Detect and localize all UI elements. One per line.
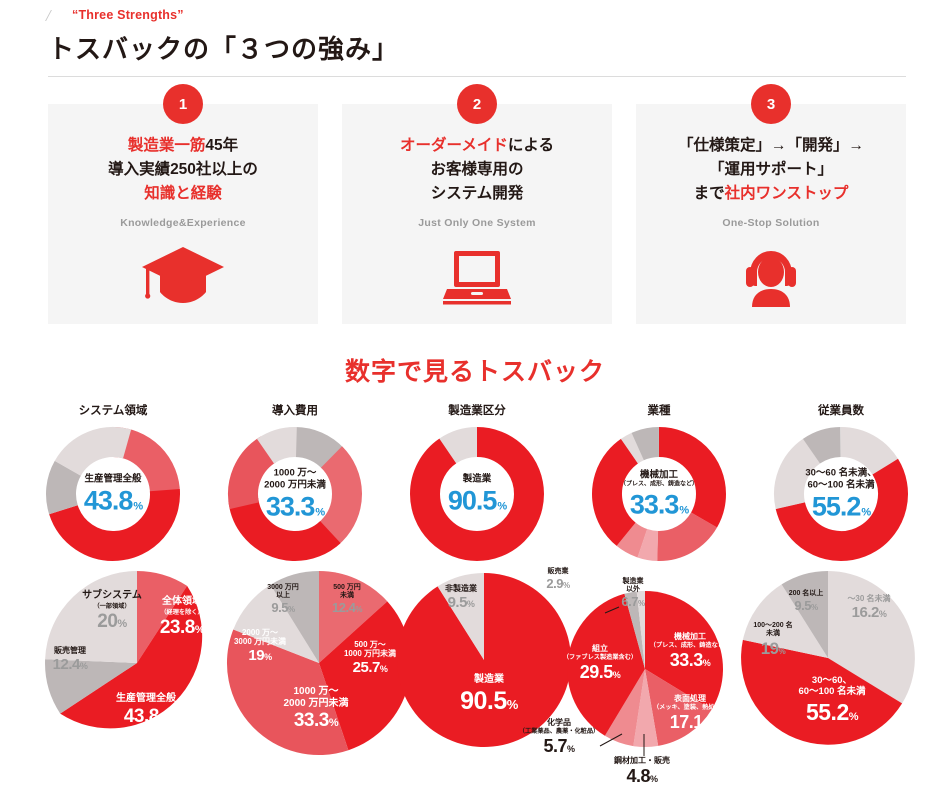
- card-heading-plain: システム開発: [431, 185, 524, 202]
- donut-center-number: 90.5%: [431, 487, 523, 514]
- pie-chart-employees: 200 名以上 9.5% ～30 名未満 16.2% 100～200 名 未満 …: [738, 568, 918, 748]
- pie-label-100to200: 100～200 名 未満 19%: [734, 622, 812, 659]
- pie-value: 43.8%: [86, 706, 206, 728]
- pie-value: 6.7%: [608, 595, 658, 610]
- donut-center-value: 30～60 名未満、 60～100 名未満 55.2%: [795, 468, 887, 521]
- pie-label-1000to2000: 1000 万～ 2000 万円未満 33.3%: [258, 686, 374, 732]
- charts-section-title: 数字で見るトスバック: [0, 352, 950, 388]
- pie-value: 90.5%: [439, 687, 539, 716]
- card-heading: 「仕様策定」→「開発」→ 「運用サポート」 まで社内ワンストップ: [636, 134, 906, 206]
- donut-chart-cost: 導入費用 1000 万～ 2000 万円未満 33.3%: [204, 402, 386, 564]
- donut-center-label-2: 2000 万円未満: [249, 480, 341, 492]
- donut-chart-row: システム領域 生産管理全般 43.8% 導入費用: [22, 402, 932, 564]
- donut-center-number: 33.3%: [613, 491, 705, 518]
- pie-label-under30: ～30 名未満 16.2%: [830, 594, 908, 621]
- donut-chart-employees: 従業員数 30～60 名未満、 60～100 名未満 55.2%: [750, 402, 932, 564]
- donut-chart-system-area: システム領域 生産管理全般 43.8%: [22, 402, 204, 564]
- pie-value: 29.5%: [552, 662, 648, 683]
- donut-center-value: 生産管理全般 43.8%: [67, 474, 159, 515]
- donut-center-label: 機械加工: [613, 470, 705, 482]
- card-heading-highlight: オーダーメイド: [400, 137, 508, 154]
- donut-center-label: 1000 万～: [249, 468, 341, 480]
- page-header: “Three Strengths” トスバックの「３つの強み」: [48, 8, 908, 66]
- card-subtitle: One-Stop Solution: [636, 217, 906, 229]
- pie-value: 19%: [734, 639, 812, 659]
- pie-value: 17.1%: [646, 712, 734, 733]
- donut-title: 業種: [568, 402, 750, 418]
- donut-center-label-2: 60～100 名未満: [795, 480, 887, 492]
- card-heading-plain: による: [508, 137, 554, 154]
- pie-value: 12.4%: [34, 656, 106, 673]
- pie-value: 9.5%: [252, 601, 314, 616]
- strength-card-2[interactable]: 2 オーダーメイドによる お客様専用の システム開発 Just Only One…: [342, 104, 612, 324]
- pie-value: 33.3%: [646, 650, 734, 671]
- pie-label-hanbaigyo: 販売業 2.9%: [528, 568, 588, 592]
- card-heading-plain: 「仕様策定」→「開発」→: [678, 137, 864, 154]
- pie-label-sales: 販売管理 12.4%: [34, 646, 106, 673]
- pie-value: 33.3%: [258, 710, 374, 732]
- pie-value: 19%: [216, 647, 304, 664]
- donut-title: システム領域: [22, 402, 204, 418]
- card-heading: 製造業一筋45年 導入実績250社以上の 知識と経験: [48, 134, 318, 206]
- card-heading-plain: 「運用サポート」: [709, 161, 833, 178]
- card-heading-plain: お客様専用の: [430, 161, 523, 178]
- pie-value: 2.9%: [528, 577, 588, 592]
- donut-center-value: 製造業 90.5%: [431, 474, 523, 515]
- pie-label-chemicals: 化学品 （工業薬品、農薬・化粧品） 5.7%: [516, 718, 602, 757]
- pie-label-non-manufacturing: 非製造業 9.5%: [424, 584, 498, 611]
- card-heading-plain: 45年: [205, 137, 238, 154]
- pie-value: 16.2%: [830, 604, 908, 621]
- card-heading: オーダーメイドによる お客様専用の システム開発: [342, 134, 612, 206]
- donut-center-value: 機械加工 （プレス、成形、鋳造など） 33.3%: [613, 470, 705, 519]
- pie-label-surface-treatment: 表面処理 （メッキ、塗装、熱処理） 17.1%: [646, 694, 734, 733]
- pie-label-over3000: 3000 万円 以上 9.5%: [252, 584, 314, 616]
- pie-label-steel-processing: 鋼材加工・販売 4.8%: [584, 756, 700, 787]
- donut-graphic: 機械加工 （プレス、成形、鋳造など） 33.3%: [584, 424, 734, 564]
- donut-center-label: 生産管理全般: [67, 474, 159, 486]
- donut-center-number: 33.3%: [249, 493, 341, 520]
- page-root: “Three Strengths” トスバックの「３つの強み」 1 製造業一筋4…: [0, 0, 950, 792]
- card-heading-plain: まで: [694, 185, 725, 202]
- strength-cards: 1 製造業一筋45年 導入実績250社以上の 知識と経験 Knowledge&E…: [48, 104, 906, 324]
- pie-label-2000to3000: 2000 万～ 3000 万円未満 19%: [216, 628, 304, 665]
- laptop-icon: [342, 245, 612, 307]
- donut-chart-industry: 業種 機械加工 （プレス、成形、鋳造など） 3: [568, 402, 750, 564]
- headset-person-icon: [636, 245, 906, 307]
- donut-graphic: 30～60 名未満、 60～100 名未満 55.2%: [766, 424, 916, 564]
- card-heading-plain: 導入実績250社以上の: [108, 161, 258, 178]
- donut-graphic: 製造業 90.5%: [402, 424, 552, 564]
- strength-card-3[interactable]: 3 「仕様策定」→「開発」→ 「運用サポート」 まで社内ワンストップ One-S…: [636, 104, 906, 324]
- graduation-cap-icon: [48, 245, 318, 307]
- donut-center-label: 30～60 名未満、: [795, 468, 887, 480]
- slash-icon: [45, 10, 67, 21]
- pie-value: 4.8%: [584, 766, 700, 787]
- pie-label-under500: 500 万円 未満 12.4%: [316, 584, 378, 616]
- pie-value: 5.7%: [516, 736, 602, 757]
- card-number-badge: 1: [163, 84, 203, 124]
- pie-chart-cost: 3000 万円 以上 9.5% 500 万円 未満 12.4% 500 万～ 1…: [224, 568, 414, 758]
- page-title: トスバックの「３つの強み」: [48, 29, 908, 66]
- pie-chart-industry: 販売業 2.9% 製造業 以外 6.7% 機械加工 （プレス、成形、鋳造など） …: [560, 584, 730, 754]
- donut-center-value: 1000 万～ 2000 万円未満 33.3%: [249, 468, 341, 521]
- pie-chart-system-area: 全体領域 （経理を除く） 23.8% サブシステム （一部領域） 20% 販売管…: [42, 568, 232, 758]
- pie-label-assembly: 組立 （ファブレス製造業含む） 29.5%: [552, 644, 648, 683]
- card-subtitle: Knowledge&Experience: [48, 217, 318, 229]
- pie-value: 9.5%: [424, 594, 498, 611]
- strength-card-1[interactable]: 1 製造業一筋45年 導入実績250社以上の 知識と経験 Knowledge&E…: [48, 104, 318, 324]
- pie-label-production: 生産管理全般 43.8%: [86, 693, 206, 727]
- pie-label-subsystem: サブシステム （一部領域） 20%: [70, 590, 154, 632]
- card-subtitle: Just Only One System: [342, 217, 612, 229]
- pie-label-manufacturing: 製造業 90.5%: [439, 674, 539, 715]
- card-heading-highlight: 社内ワンストップ: [725, 185, 849, 202]
- card-heading-highlight: 知識と経験: [144, 185, 222, 202]
- pie-value: 9.5%: [776, 599, 836, 614]
- donut-title: 導入費用: [204, 402, 386, 418]
- donut-title: 従業員数: [750, 402, 932, 418]
- pie-label-non-manufacturing: 製造業 以外 6.7%: [608, 578, 658, 610]
- card-number-badge: 2: [457, 84, 497, 124]
- donut-title: 製造業区分: [386, 402, 568, 418]
- donut-graphic: 生産管理全般 43.8%: [38, 424, 188, 564]
- donut-center-sublabel: （プレス、成形、鋳造など）: [613, 482, 705, 490]
- pie-label-machining: 機械加工 （プレス、成形、鋳造など） 33.3%: [646, 632, 734, 671]
- eyebrow: “Three Strengths”: [48, 8, 908, 22]
- header-divider: [48, 76, 906, 77]
- pie-label-30to100: 30～60、 60～100 名未満 55.2%: [770, 676, 894, 725]
- card-heading-highlight: 製造業一筋: [128, 137, 206, 154]
- pie-value: 20%: [70, 611, 154, 633]
- eyebrow-text: “Three Strengths”: [72, 8, 184, 22]
- donut-center-number: 55.2%: [795, 493, 887, 520]
- donut-center-label: 製造業: [431, 474, 523, 486]
- pie-chart-row: 全体領域 （経理を除く） 23.8% サブシステム （一部領域） 20% 販売管…: [0, 560, 950, 792]
- donut-graphic: 1000 万～ 2000 万円未満 33.3%: [220, 424, 370, 564]
- pie-value: 12.4%: [316, 601, 378, 616]
- pie-value: 55.2%: [770, 699, 894, 725]
- donut-chart-manufacturing: 製造業区分 製造業 90.5%: [386, 402, 568, 564]
- donut-center-number: 43.8%: [67, 487, 159, 514]
- card-number-badge: 3: [751, 84, 791, 124]
- pie-label-over200: 200 名以上 9.5%: [776, 590, 836, 614]
